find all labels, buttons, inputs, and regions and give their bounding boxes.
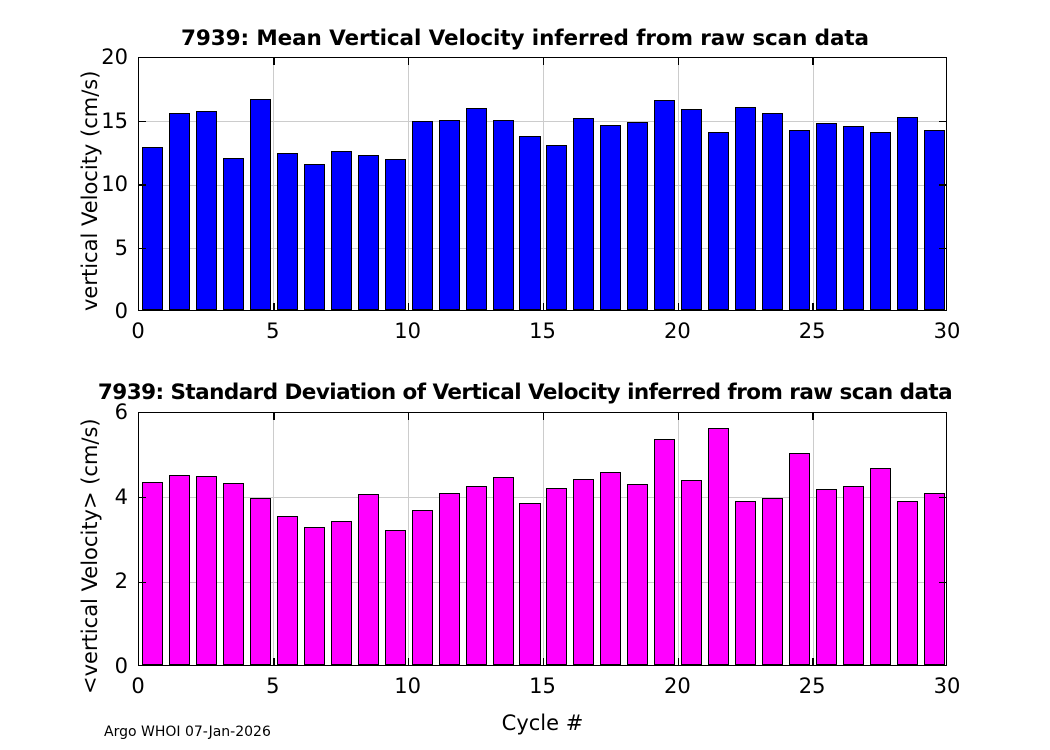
x-axis-tick-label: 20 [664, 676, 691, 697]
x-axis-tick-label: 30 [934, 676, 961, 697]
bar [250, 99, 271, 310]
bar [358, 155, 379, 310]
gridline-vertical [273, 58, 274, 310]
y-axis-tick-label: 0 [68, 656, 128, 677]
gridline-vertical [813, 413, 814, 665]
bar [708, 428, 729, 665]
y-axis-tick-label: 4 [68, 487, 128, 508]
plot-area-std [138, 412, 947, 666]
bar [466, 108, 487, 310]
bar [277, 153, 298, 310]
x-axis-tick-label: 10 [394, 321, 421, 342]
x-axis-tick [812, 658, 814, 665]
plot-area-mean [138, 57, 947, 311]
plot-inner-std [139, 413, 946, 665]
y-axis-tick [939, 248, 946, 250]
x-axis-tick-label: 15 [529, 321, 556, 342]
bar [816, 489, 837, 665]
bar [654, 439, 675, 665]
x-axis-tick-label: 0 [131, 676, 144, 697]
gridline-vertical [408, 58, 409, 310]
footer-credit: Argo WHOI 07-Jan-2026 [104, 724, 271, 740]
x-axis-tick [543, 303, 545, 310]
bar [762, 113, 783, 310]
x-axis-tick [408, 413, 410, 420]
bar [196, 111, 217, 310]
y-axis-label-std: <vertical Velocity> (cm/s) [78, 418, 102, 694]
x-axis-tick-label: 20 [664, 321, 691, 342]
x-axis-tick-label: 5 [266, 676, 279, 697]
bar [439, 120, 460, 311]
gridline-vertical [408, 413, 409, 665]
bar [924, 130, 945, 310]
x-axis-tick [408, 658, 410, 665]
x-axis-tick-label: 30 [934, 321, 961, 342]
y-axis-tick-label: 15 [68, 111, 128, 132]
bar [493, 120, 514, 311]
x-axis-tick [543, 413, 545, 420]
gridline-vertical [543, 413, 544, 665]
x-axis-tick-label: 5 [266, 321, 279, 342]
bar [573, 118, 594, 310]
bar [493, 477, 514, 665]
gridline-vertical [543, 58, 544, 310]
bar [708, 132, 729, 310]
bar [600, 472, 621, 665]
y-axis-tick [139, 121, 146, 123]
bar [439, 493, 460, 665]
chart-title-mean: 7939: Mean Vertical Velocity inferred fr… [0, 26, 1050, 51]
x-axis-tick-label: 25 [799, 321, 826, 342]
bar [627, 484, 648, 665]
bar [250, 498, 271, 665]
y-axis-tick [139, 582, 146, 584]
gridline-vertical [678, 58, 679, 310]
bar [385, 530, 406, 665]
x-axis-tick [678, 58, 680, 65]
y-axis-tick-label: 6 [68, 402, 128, 423]
bar [843, 486, 864, 665]
x-axis-tick-label: 25 [799, 676, 826, 697]
bar [816, 123, 837, 310]
gridline-vertical [678, 413, 679, 665]
x-axis-tick [273, 413, 275, 420]
x-axis-tick [812, 413, 814, 420]
x-axis-tick [273, 58, 275, 65]
bar [789, 453, 810, 666]
bar [600, 125, 621, 310]
x-axis-tick [273, 303, 275, 310]
bar [169, 113, 190, 310]
x-axis-tick [273, 658, 275, 665]
gridline-vertical [813, 58, 814, 310]
bar [223, 483, 244, 665]
bar [412, 121, 433, 310]
bar [924, 493, 945, 665]
bar [681, 480, 702, 665]
bar [654, 100, 675, 310]
bar [870, 132, 891, 310]
bar [627, 122, 648, 310]
bar [897, 501, 918, 665]
y-axis-tick [939, 582, 946, 584]
x-axis-tick [408, 58, 410, 65]
y-axis-tick-label: 5 [68, 238, 128, 259]
bar [277, 516, 298, 665]
bar [142, 147, 163, 310]
bar [897, 117, 918, 310]
bar [573, 479, 594, 665]
plot-inner-mean [139, 58, 946, 310]
bar [870, 468, 891, 665]
x-axis-tick-label: 10 [394, 676, 421, 697]
x-axis-tick [543, 658, 545, 665]
bar [412, 510, 433, 665]
bar [546, 488, 567, 665]
y-axis-tick-label: 2 [68, 571, 128, 592]
bar [519, 503, 540, 665]
y-axis-tick [139, 497, 146, 499]
x-axis-tick [543, 58, 545, 65]
bar [223, 158, 244, 310]
bar [735, 107, 756, 310]
figure-canvas: 7939: Mean Vertical Velocity inferred fr… [0, 0, 1050, 750]
bar [519, 136, 540, 310]
x-axis-tick [678, 658, 680, 665]
bar [304, 527, 325, 665]
bar [546, 145, 567, 310]
x-axis-tick-label: 15 [529, 676, 556, 697]
x-axis-tick-label: 0 [131, 321, 144, 342]
bar [358, 494, 379, 665]
x-axis-tick [812, 303, 814, 310]
y-axis-tick-label: 10 [68, 174, 128, 195]
y-axis-tick-label: 0 [68, 301, 128, 322]
bar [304, 164, 325, 310]
chart-title-std: 7939: Standard Deviation of Vertical Vel… [0, 380, 1050, 405]
y-axis-tick [139, 248, 146, 250]
bar [762, 498, 783, 665]
bar [331, 521, 352, 665]
bar [331, 151, 352, 310]
x-axis-tick [812, 58, 814, 65]
bar [196, 476, 217, 665]
bar [789, 130, 810, 310]
x-axis-tick [678, 303, 680, 310]
gridline-vertical [273, 413, 274, 665]
y-axis-tick [139, 184, 146, 186]
y-axis-tick [939, 184, 946, 186]
bar [466, 486, 487, 665]
y-axis-tick [939, 121, 946, 123]
bar [735, 501, 756, 665]
x-axis-tick [408, 303, 410, 310]
bar [142, 482, 163, 665]
y-axis-tick [939, 497, 946, 499]
bar [843, 126, 864, 310]
y-axis-tick-label: 20 [68, 47, 128, 68]
bar [385, 159, 406, 310]
x-axis-tick [678, 413, 680, 420]
bar [681, 109, 702, 310]
bar [169, 475, 190, 666]
